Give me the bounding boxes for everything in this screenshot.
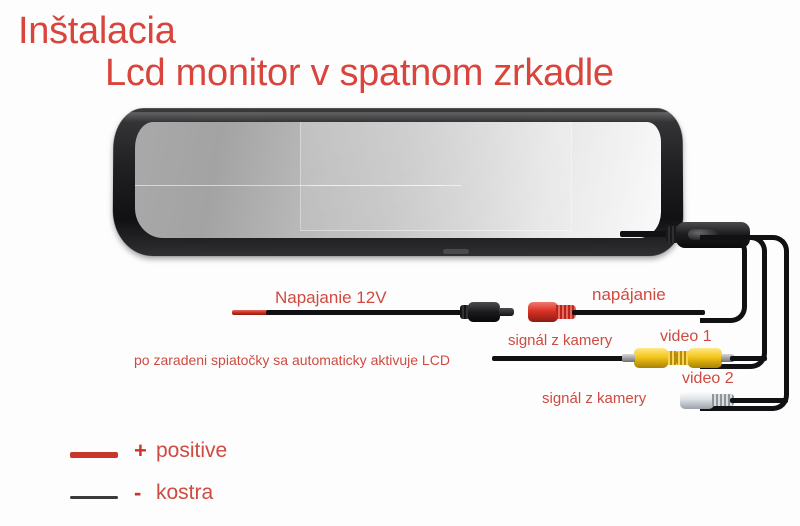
- label-video-1: video 1: [660, 328, 712, 346]
- mirror-mount-nub: [443, 249, 469, 254]
- page-title-line-1: Inštalacia: [18, 10, 176, 53]
- power-wire-black-run: [266, 310, 466, 315]
- mirror-reflection-seam-secondary: [309, 185, 446, 186]
- legend-sign-positive: +: [134, 438, 147, 464]
- legend-sign-ground: -: [134, 480, 141, 506]
- installation-diagram: Inštalacia Lcd monitor v spatnom zrkadle: [0, 0, 800, 526]
- rca-connector-yellow-camera: [622, 348, 680, 368]
- rca-connector-yellow-monitor: [676, 348, 734, 368]
- label-camera-signal-1: signál z kamery: [508, 332, 612, 349]
- power-wire-to-splitter: [572, 310, 705, 315]
- video-1-wire-to-splitter: [730, 356, 767, 361]
- label-reverse-activation-note: po zaradeni spiatočky sa automaticky akt…: [134, 352, 450, 368]
- legend-label-ground: kostra: [156, 481, 213, 505]
- legend-line-red-icon: [70, 452, 118, 458]
- label-camera-signal-2: signál z kamery: [542, 390, 646, 407]
- legend-label-positive: positive: [156, 439, 227, 463]
- legend-line-black-icon: [70, 496, 118, 499]
- label-power-connector: napájanie: [592, 285, 666, 305]
- page-title-line-2: Lcd monitor v spatnom zrkadle: [105, 52, 614, 95]
- label-power-input: Napajanie 12V: [275, 288, 387, 308]
- dc-barrel-plug-male: [458, 302, 514, 322]
- rca-connector-white-video-2: [680, 391, 734, 409]
- rear-view-mirror: [113, 108, 683, 256]
- video-1-camera-cable: [492, 356, 627, 361]
- mirror-glass: [135, 122, 661, 238]
- lcd-screen-area: [300, 122, 572, 231]
- video-2-wire-to-splitter: [730, 398, 788, 403]
- dc-barrel-jack-red-female: [528, 302, 576, 322]
- power-wire-red-tail: [232, 310, 270, 315]
- label-video-2: video 2: [682, 370, 734, 388]
